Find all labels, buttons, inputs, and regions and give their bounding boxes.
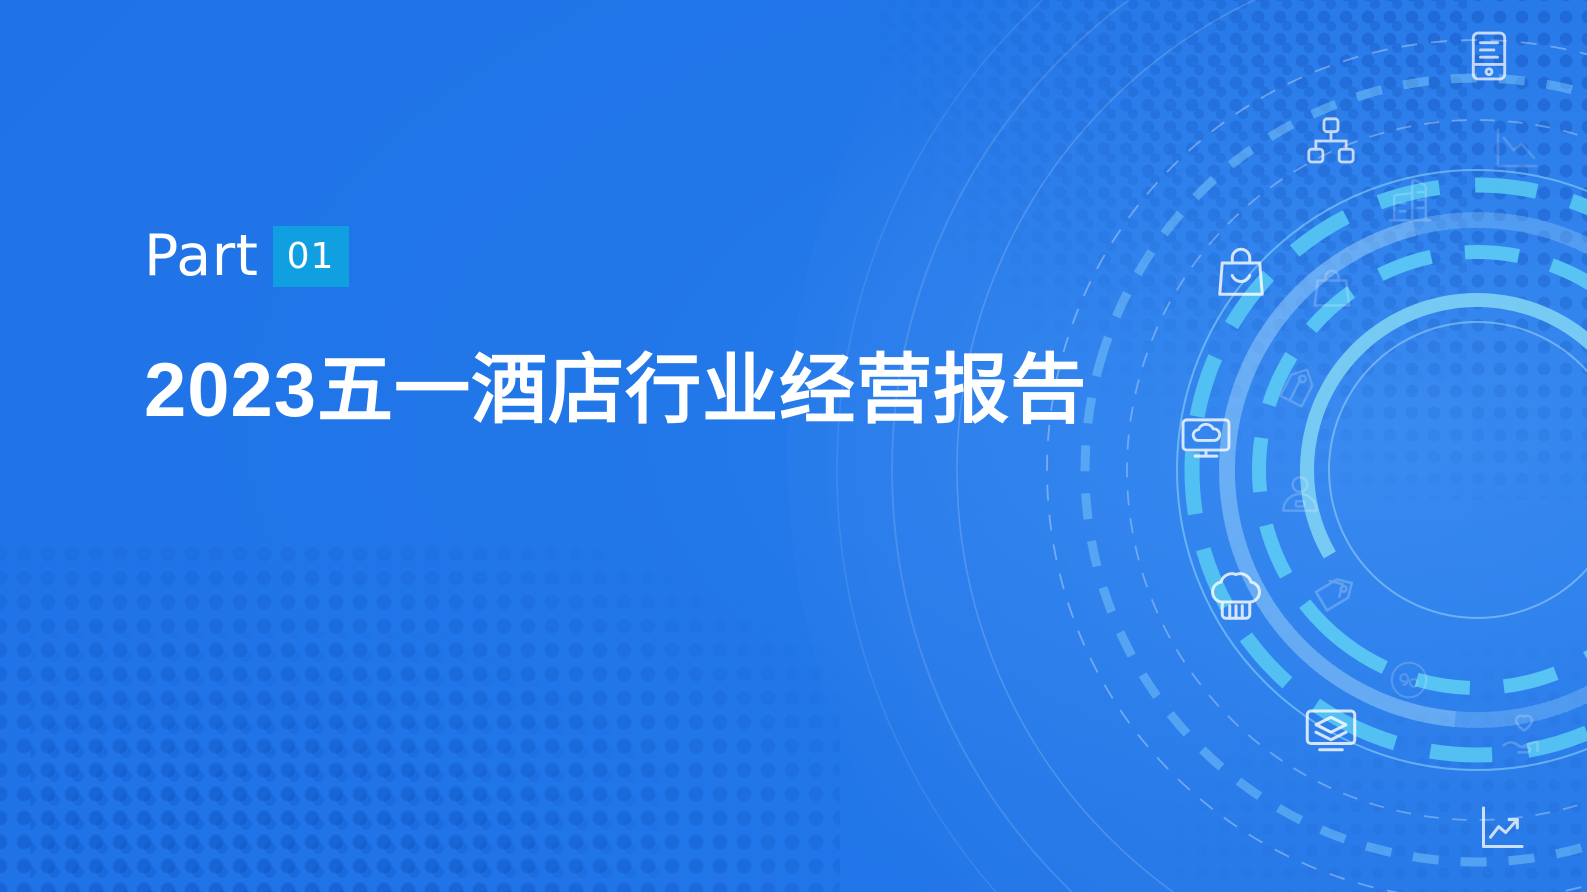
part-number-badge: 01: [273, 226, 349, 287]
slide-text-block: Part 01 2023五一酒店行业经营报告: [144, 222, 1087, 483]
page-title: 2023五一酒店行业经营报告: [144, 350, 1087, 432]
presentation-slide: Part 01 2023五一酒店行业经营报告: [0, 0, 1587, 892]
part-header: Part 01: [144, 222, 1087, 290]
part-label: Part: [144, 228, 259, 285]
